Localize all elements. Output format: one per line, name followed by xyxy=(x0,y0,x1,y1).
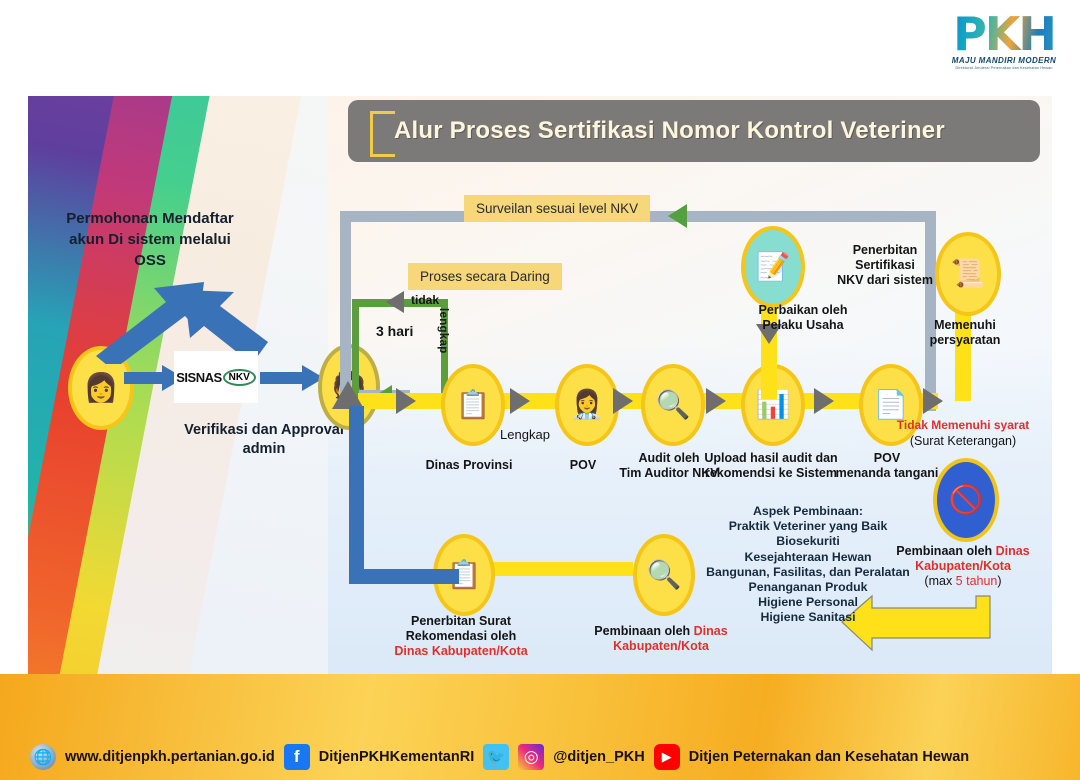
blue-return-vertical xyxy=(349,406,364,584)
node-pembinaan-dinas-kabupaten: 🔍 xyxy=(633,534,695,616)
pkh-logo-tagline: MAJU MANDIRI MODERN xyxy=(938,56,1070,65)
top-white-band: PKH MAJU MANDIRI MODERN Direktorat Jende… xyxy=(0,0,1080,96)
pembinaan-bottom-pre: Pembinaan oleh xyxy=(594,624,693,638)
pkh-logo-letters: PKH xyxy=(938,8,1070,60)
check-clipboard-icon: 📝 xyxy=(756,253,791,281)
spine-arrow-3 xyxy=(613,388,633,414)
auditor-icon: 🔍 xyxy=(647,561,682,589)
sisnas-nkv-logo: SISNAS NKV xyxy=(174,351,258,403)
label-penerbitan-surat-line1: Penerbitan Surat xyxy=(390,614,532,629)
footer-instagram[interactable]: @ditjen_PKH xyxy=(553,749,644,765)
spine-arrow-4 xyxy=(706,388,726,414)
label-penerbitan-surat-line3: Dinas Kabupaten/Kota xyxy=(380,644,542,659)
label-dinas-provinsi: Dinas Provinsi xyxy=(401,458,537,473)
twitter-icon[interactable]: 🐦 xyxy=(483,744,509,770)
aspek-item: Praktik Veteriner yang Baik xyxy=(668,519,948,534)
instagram-icon[interactable]: ◎ xyxy=(518,744,544,770)
youtube-icon[interactable]: ▶ xyxy=(654,744,680,770)
blue-return-horizontal xyxy=(349,569,459,584)
officer-icon: 👩‍⚕️ xyxy=(570,391,605,419)
aspek-item: Kesejahteraan Hewan xyxy=(668,550,948,565)
blue-arrow-sisnas-to-verifier xyxy=(260,364,326,392)
facebook-icon[interactable]: f xyxy=(284,744,310,770)
label-lengkap-edge: Lengkap xyxy=(490,427,560,442)
pembinaan-bottom-dinas: Dinas xyxy=(694,624,728,638)
label-perbaikan-line2: Pelaku Usaha xyxy=(718,318,888,333)
spine-arrow-1 xyxy=(396,388,416,414)
label-3-hari: 3 hari xyxy=(376,324,413,339)
node-audit-tim-auditor: 🔍 xyxy=(641,364,705,446)
poster-title-bar: Alur Proses Sertifikasi Nomor Kontrol Ve… xyxy=(348,100,1040,162)
surveillance-arrowhead xyxy=(668,204,687,228)
verification-approval-text: Verifikasi dan Approval admin xyxy=(180,421,348,459)
aspek-heading: Aspek Pembinaan: xyxy=(668,504,948,519)
label-penerbitan-surat-line2: Rekomendasi oleh xyxy=(390,629,532,644)
label-penerbitan-line2: Sertifikasi xyxy=(826,258,944,273)
sisnas-label: SISNAS xyxy=(176,370,221,385)
spine-arrow-6 xyxy=(923,388,943,414)
aspek-item: Higiene Personal xyxy=(668,595,948,610)
footer-social-strip: 🌐 www.ditjenpkh.pertanian.go.id f Ditjen… xyxy=(0,734,1080,780)
nkv-badge: NKV xyxy=(223,369,256,386)
certificate-icon: 📜 xyxy=(951,260,986,288)
pembinaan-right-dinas: Dinas xyxy=(996,544,1030,558)
pkh-logo: PKH MAJU MANDIRI MODERN Direktorat Jende… xyxy=(938,8,1070,90)
title-bracket-icon xyxy=(370,111,395,157)
bottom-return-arrowhead xyxy=(332,381,364,409)
label-penerbitan-line3: NKV dari sistem xyxy=(816,273,954,288)
auditor-icon: 🔍 xyxy=(656,391,691,419)
label-perbaikan-line1: Perbaikan oleh xyxy=(718,303,888,318)
label-pembinaan-bottom-line2: Kabupaten/Kota xyxy=(580,639,742,654)
aspek-pembinaan-list: Aspek Pembinaan: Praktik Veteriner yang … xyxy=(668,504,948,626)
aspek-item: Bangunan, Fasilitas, dan Peralatan xyxy=(668,565,948,580)
label-memenuhi-line1: Memenuhi xyxy=(906,318,1024,333)
label-pembinaan-bottom-line1: Pembinaan oleh Dinas xyxy=(580,624,742,639)
label-upload-line1: Upload hasil audit dan xyxy=(698,451,844,466)
surveillance-pipe-left xyxy=(340,211,351,401)
diagram-canvas: Alur Proses Sertifikasi Nomor Kontrol Ve… xyxy=(28,96,1052,674)
tidak-arrowhead xyxy=(386,291,404,313)
node-pov: 👩‍⚕️ xyxy=(555,364,619,446)
clipboard-icon: 📋 xyxy=(456,391,491,419)
surveillance-pipe-right xyxy=(925,211,936,411)
max-post: ) xyxy=(997,574,1001,588)
aspek-item: Biosekuriti xyxy=(668,534,948,549)
label-pov2-line1: POV xyxy=(828,451,946,466)
aspek-item: Penanganan Produk xyxy=(668,580,948,595)
spine-arrow-2 xyxy=(510,388,530,414)
label-penerbitan-line1: Penerbitan xyxy=(826,243,944,258)
oss-application-text: Permohonan Mendaftar akun Di sistem mela… xyxy=(60,208,240,271)
max-red: 5 tahun xyxy=(956,574,998,588)
footer-facebook[interactable]: DitjenPKHKementanRI xyxy=(319,749,475,765)
label-lengkap-vertical: lengkap xyxy=(437,308,449,354)
label-memenuhi-line2: persyaratan xyxy=(906,333,1024,348)
signed-document-icon: 📄 xyxy=(874,391,909,419)
footer-youtube[interactable]: Ditjen Peternakan dan Kesehatan Hewan xyxy=(689,749,969,765)
label-pov2-line2: menanda tangani xyxy=(828,466,946,481)
person-icon: 👩 xyxy=(84,374,119,402)
prohibited-document-icon: 🚫 xyxy=(949,486,984,514)
label-tidak: tidak xyxy=(411,293,439,308)
label-surat-keterangan: (Surat Keterangan) xyxy=(883,434,1043,449)
footer-website[interactable]: www.ditjenpkh.pertanian.go.id xyxy=(65,749,275,765)
pkh-logo-subtagline: Direktorat Jenderal Peternakan dan Keseh… xyxy=(938,66,1070,70)
bottom-yellow-line xyxy=(473,562,633,576)
spine-arrow-5 xyxy=(814,388,834,414)
chip-proses-daring: Proses secara Daring xyxy=(408,263,562,290)
label-upload-line2: rekomendsi ke Sistem xyxy=(698,466,844,481)
label-tidak-memenuhi-syarat: Tidak Memenuhi syarat xyxy=(883,418,1043,433)
chip-surveilan: Surveilan sesuai level NKV xyxy=(464,195,650,222)
node-perbaikan-pelaku-usaha: 📝 xyxy=(741,226,805,308)
page-title: Alur Proses Sertifikasi Nomor Kontrol Ve… xyxy=(394,117,945,145)
globe-icon[interactable]: 🌐 xyxy=(30,744,56,770)
